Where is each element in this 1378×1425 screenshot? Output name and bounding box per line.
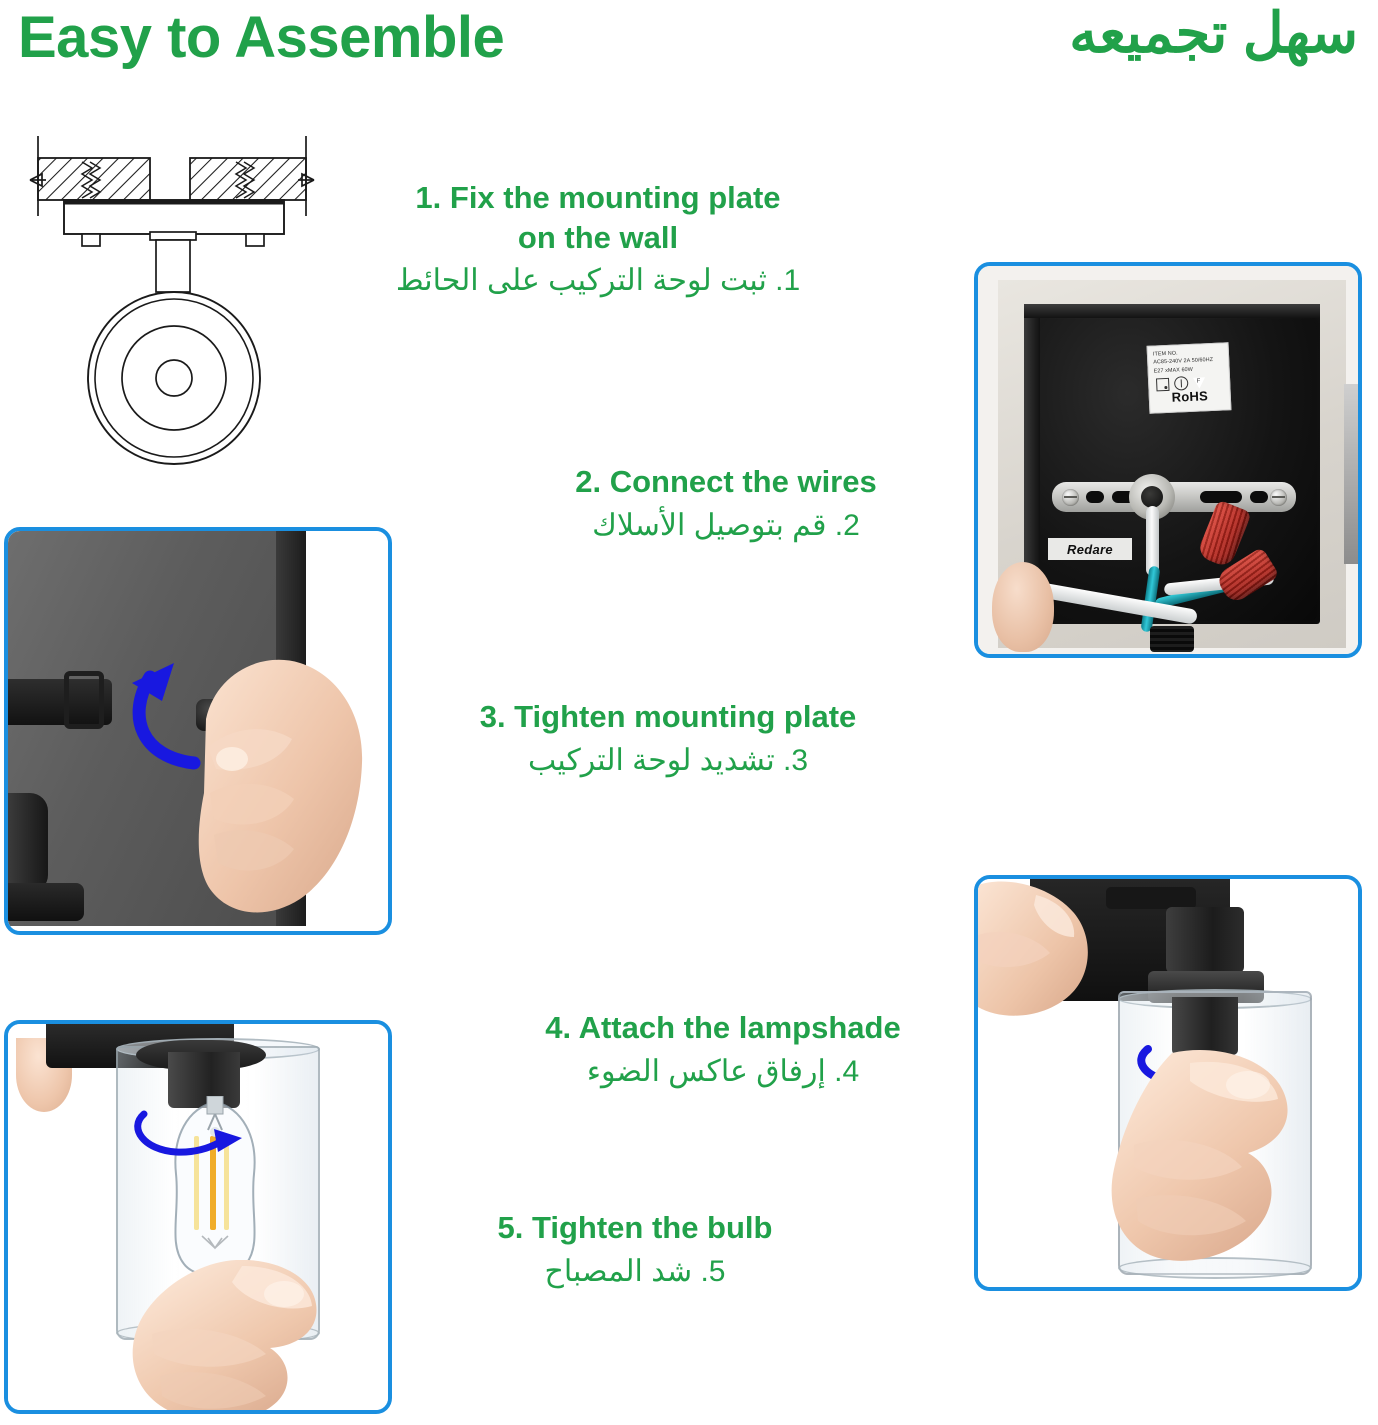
step-5-text-ar: 5. شد المصباح (430, 1252, 840, 1293)
step-2-text-ar: 2. قم بتوصيل الأسلاك (506, 506, 946, 547)
rotation-arrow-icon (130, 1102, 248, 1160)
brand-label: Redare (1048, 538, 1132, 560)
step1-mounting-plate-diagram (8, 128, 348, 473)
step-3-text-block: 3. Tighten mounting plate 3. تشديد لوحة … (408, 697, 928, 781)
step-1-text-en: 1. Fix the mounting plate on the wall (348, 178, 848, 257)
step-1-text-block: 1. Fix the mounting plate on the wall 1.… (348, 178, 848, 302)
f-mark-triangle-icon (1193, 377, 1205, 389)
step-2-photo-junction-box: ITEM NO. AC85-240V 2A 50/60HZ E27 xMAX 6… (974, 262, 1362, 658)
page-title-arabic: سهل تجميعه (1069, 0, 1358, 66)
hand-screwing-bulb (116, 1260, 336, 1414)
step-5-text-en: 5. Tighten the bulb (430, 1208, 840, 1248)
fixture-base (8, 883, 84, 921)
fixture-socket-cylinder (8, 793, 48, 893)
page-title-english: Easy to Assemble (18, 4, 504, 71)
backplate-top-bar (1106, 887, 1196, 909)
hand-holding-fixture (978, 879, 1108, 1029)
step-4-photo-attach-shade (974, 875, 1362, 1291)
rating-label: ITEM NO. AC85-240V 2A 50/60HZ E27 xMAX 6… (1147, 342, 1232, 414)
step-3-text-en: 3. Tighten mounting plate (408, 697, 928, 737)
thumb (992, 562, 1054, 652)
fixture-arm-bracket (64, 671, 104, 729)
step-1-text-ar: 1. ثبت لوحة التركيب على الحائط (348, 261, 848, 302)
threaded-nipple (1150, 626, 1194, 652)
step-4-text-en: 4. Attach the lampshade (488, 1008, 958, 1048)
adjacent-image-sliver (1344, 384, 1358, 564)
socket-upper (1166, 907, 1244, 973)
crossbar-screw-right (1270, 489, 1287, 506)
brand-label-text: Redare (1067, 542, 1113, 557)
hand-gripping-knob (188, 623, 392, 923)
step-2-text-block: 2. Connect the wires 2. قم بتوصيل الأسلا… (506, 462, 946, 546)
crossbar-screw-left (1062, 489, 1079, 506)
step-4-text-ar: 4. إرفاق عاكس الضوء (488, 1052, 958, 1093)
step-3-photo-tighten-knob (4, 527, 392, 935)
step-2-text-en: 2. Connect the wires (506, 462, 946, 502)
hand-turning-shade (1098, 1049, 1318, 1279)
step-5-photo-tighten-bulb (4, 1020, 392, 1414)
step-3-text-ar: 3. تشديد لوحة التركيب (408, 741, 928, 782)
step-5-text-block: 5. Tighten the bulb 5. شد المصباح (430, 1208, 840, 1292)
step-4-text-block: 4. Attach the lampshade 4. إرفاق عاكس ال… (488, 1008, 958, 1092)
class-box-icon (1156, 377, 1170, 391)
